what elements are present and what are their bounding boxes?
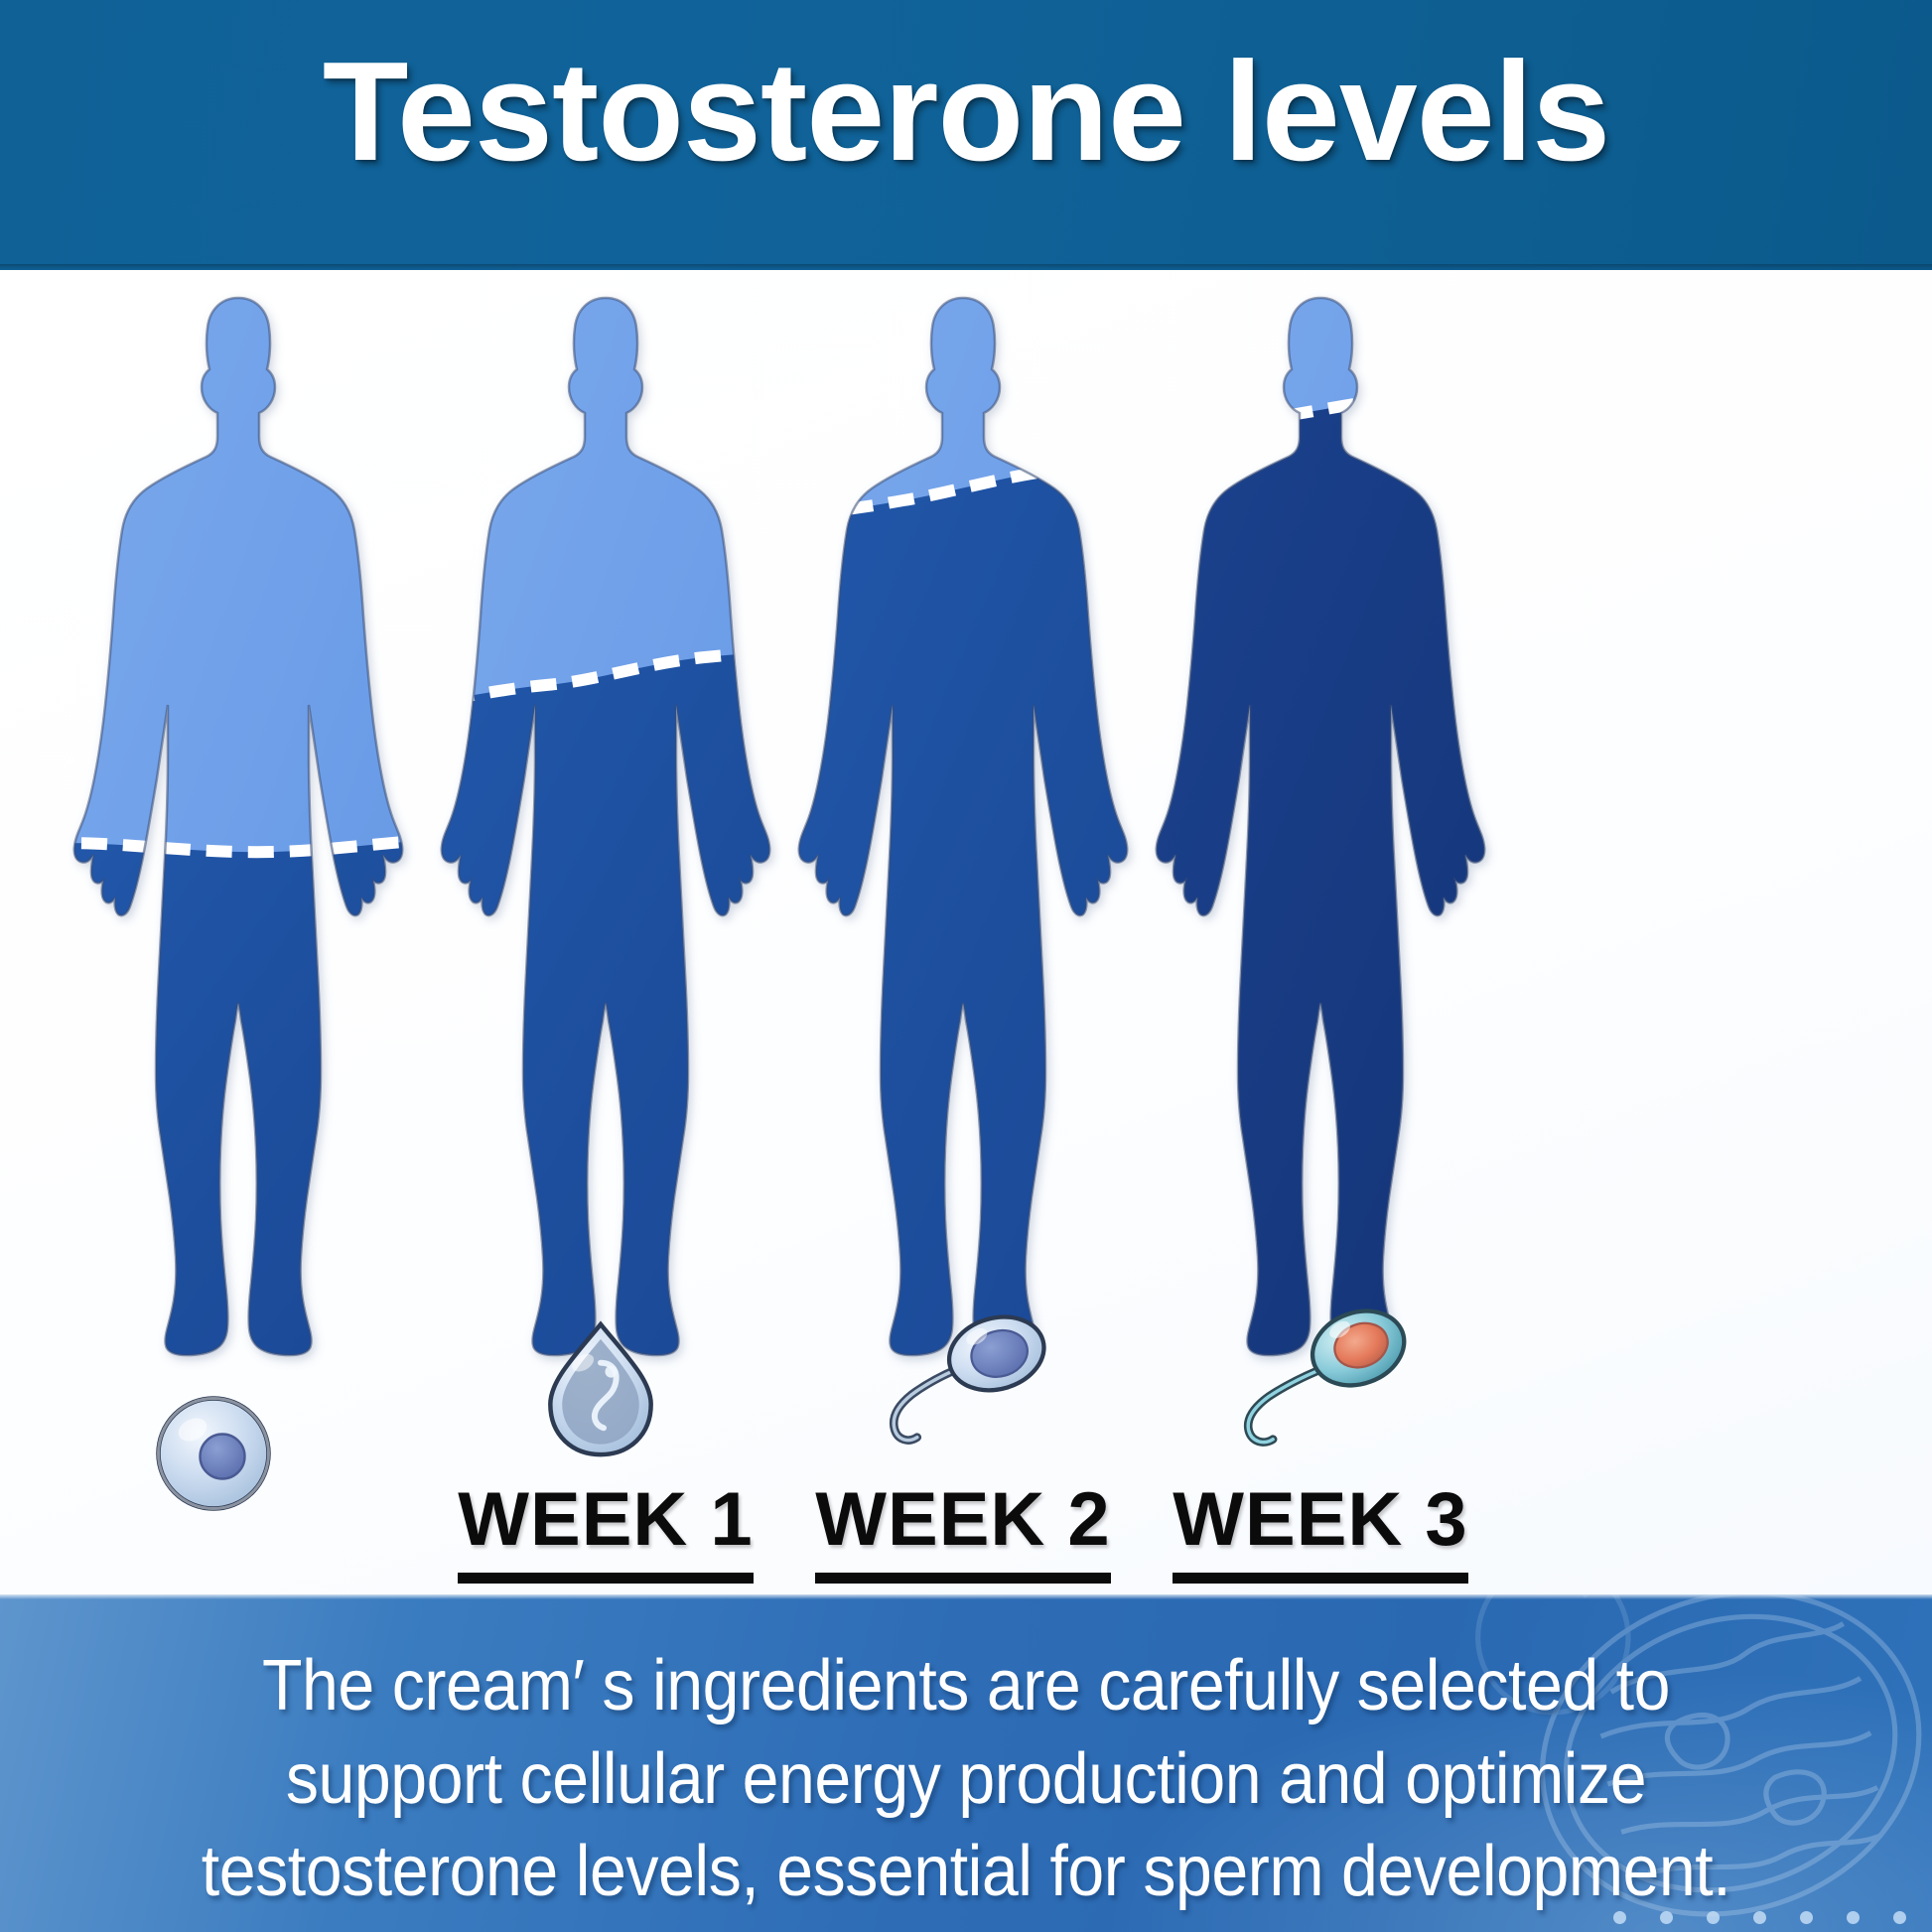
developing-cell-icon [526,1312,764,1481]
figures-area: WEEK 1 [0,270,1932,1594]
figure-column-week-1: WEEK 1 [397,270,814,1594]
week-label-2: WEEK 2 [755,1476,1172,1584]
body-silhouette-week-2 [764,288,1162,1400]
round-cell-icon [139,1382,377,1551]
sperm-icon [866,1312,1104,1481]
figure-column-baseline [30,270,447,1594]
figure-column-week-3: WEEK 3 [1112,270,1529,1594]
footer-band: ATP The cream′ s ingredients are careful… [0,1594,1932,1932]
header-band: Testosterone levels [0,0,1932,270]
body-silhouette-week-3 [1122,288,1519,1400]
footer-dot [1847,1911,1860,1924]
body-silhouette-week-1 [407,288,804,1400]
body-silhouette-baseline [40,288,437,1400]
footer-dot [1707,1911,1720,1924]
footer-caption: The cream′ s ingredients are carefully s… [77,1640,1855,1919]
footer-dot [1613,1911,1626,1924]
footer-dot [1753,1911,1766,1924]
watermark-label: ATP [1546,1594,1639,1596]
week-label-2-text: WEEK 2 [815,1476,1110,1584]
footer-dot [1893,1911,1906,1924]
footer-dot [1660,1911,1673,1924]
sperm-mature-icon [1223,1308,1461,1476]
week-label-3: WEEK 3 [1112,1476,1529,1584]
infographic-page: Testosterone levels [0,0,1932,1932]
week-label-3-text: WEEK 3 [1173,1476,1467,1584]
footer-dot [1800,1911,1813,1924]
footer-dot-row [1613,1911,1906,1924]
page-title: Testosterone levels [0,36,1932,188]
week-label-1-text: WEEK 1 [458,1476,753,1584]
figure-column-week-2: WEEK 2 [755,270,1172,1594]
week-label-1: WEEK 1 [397,1476,814,1584]
